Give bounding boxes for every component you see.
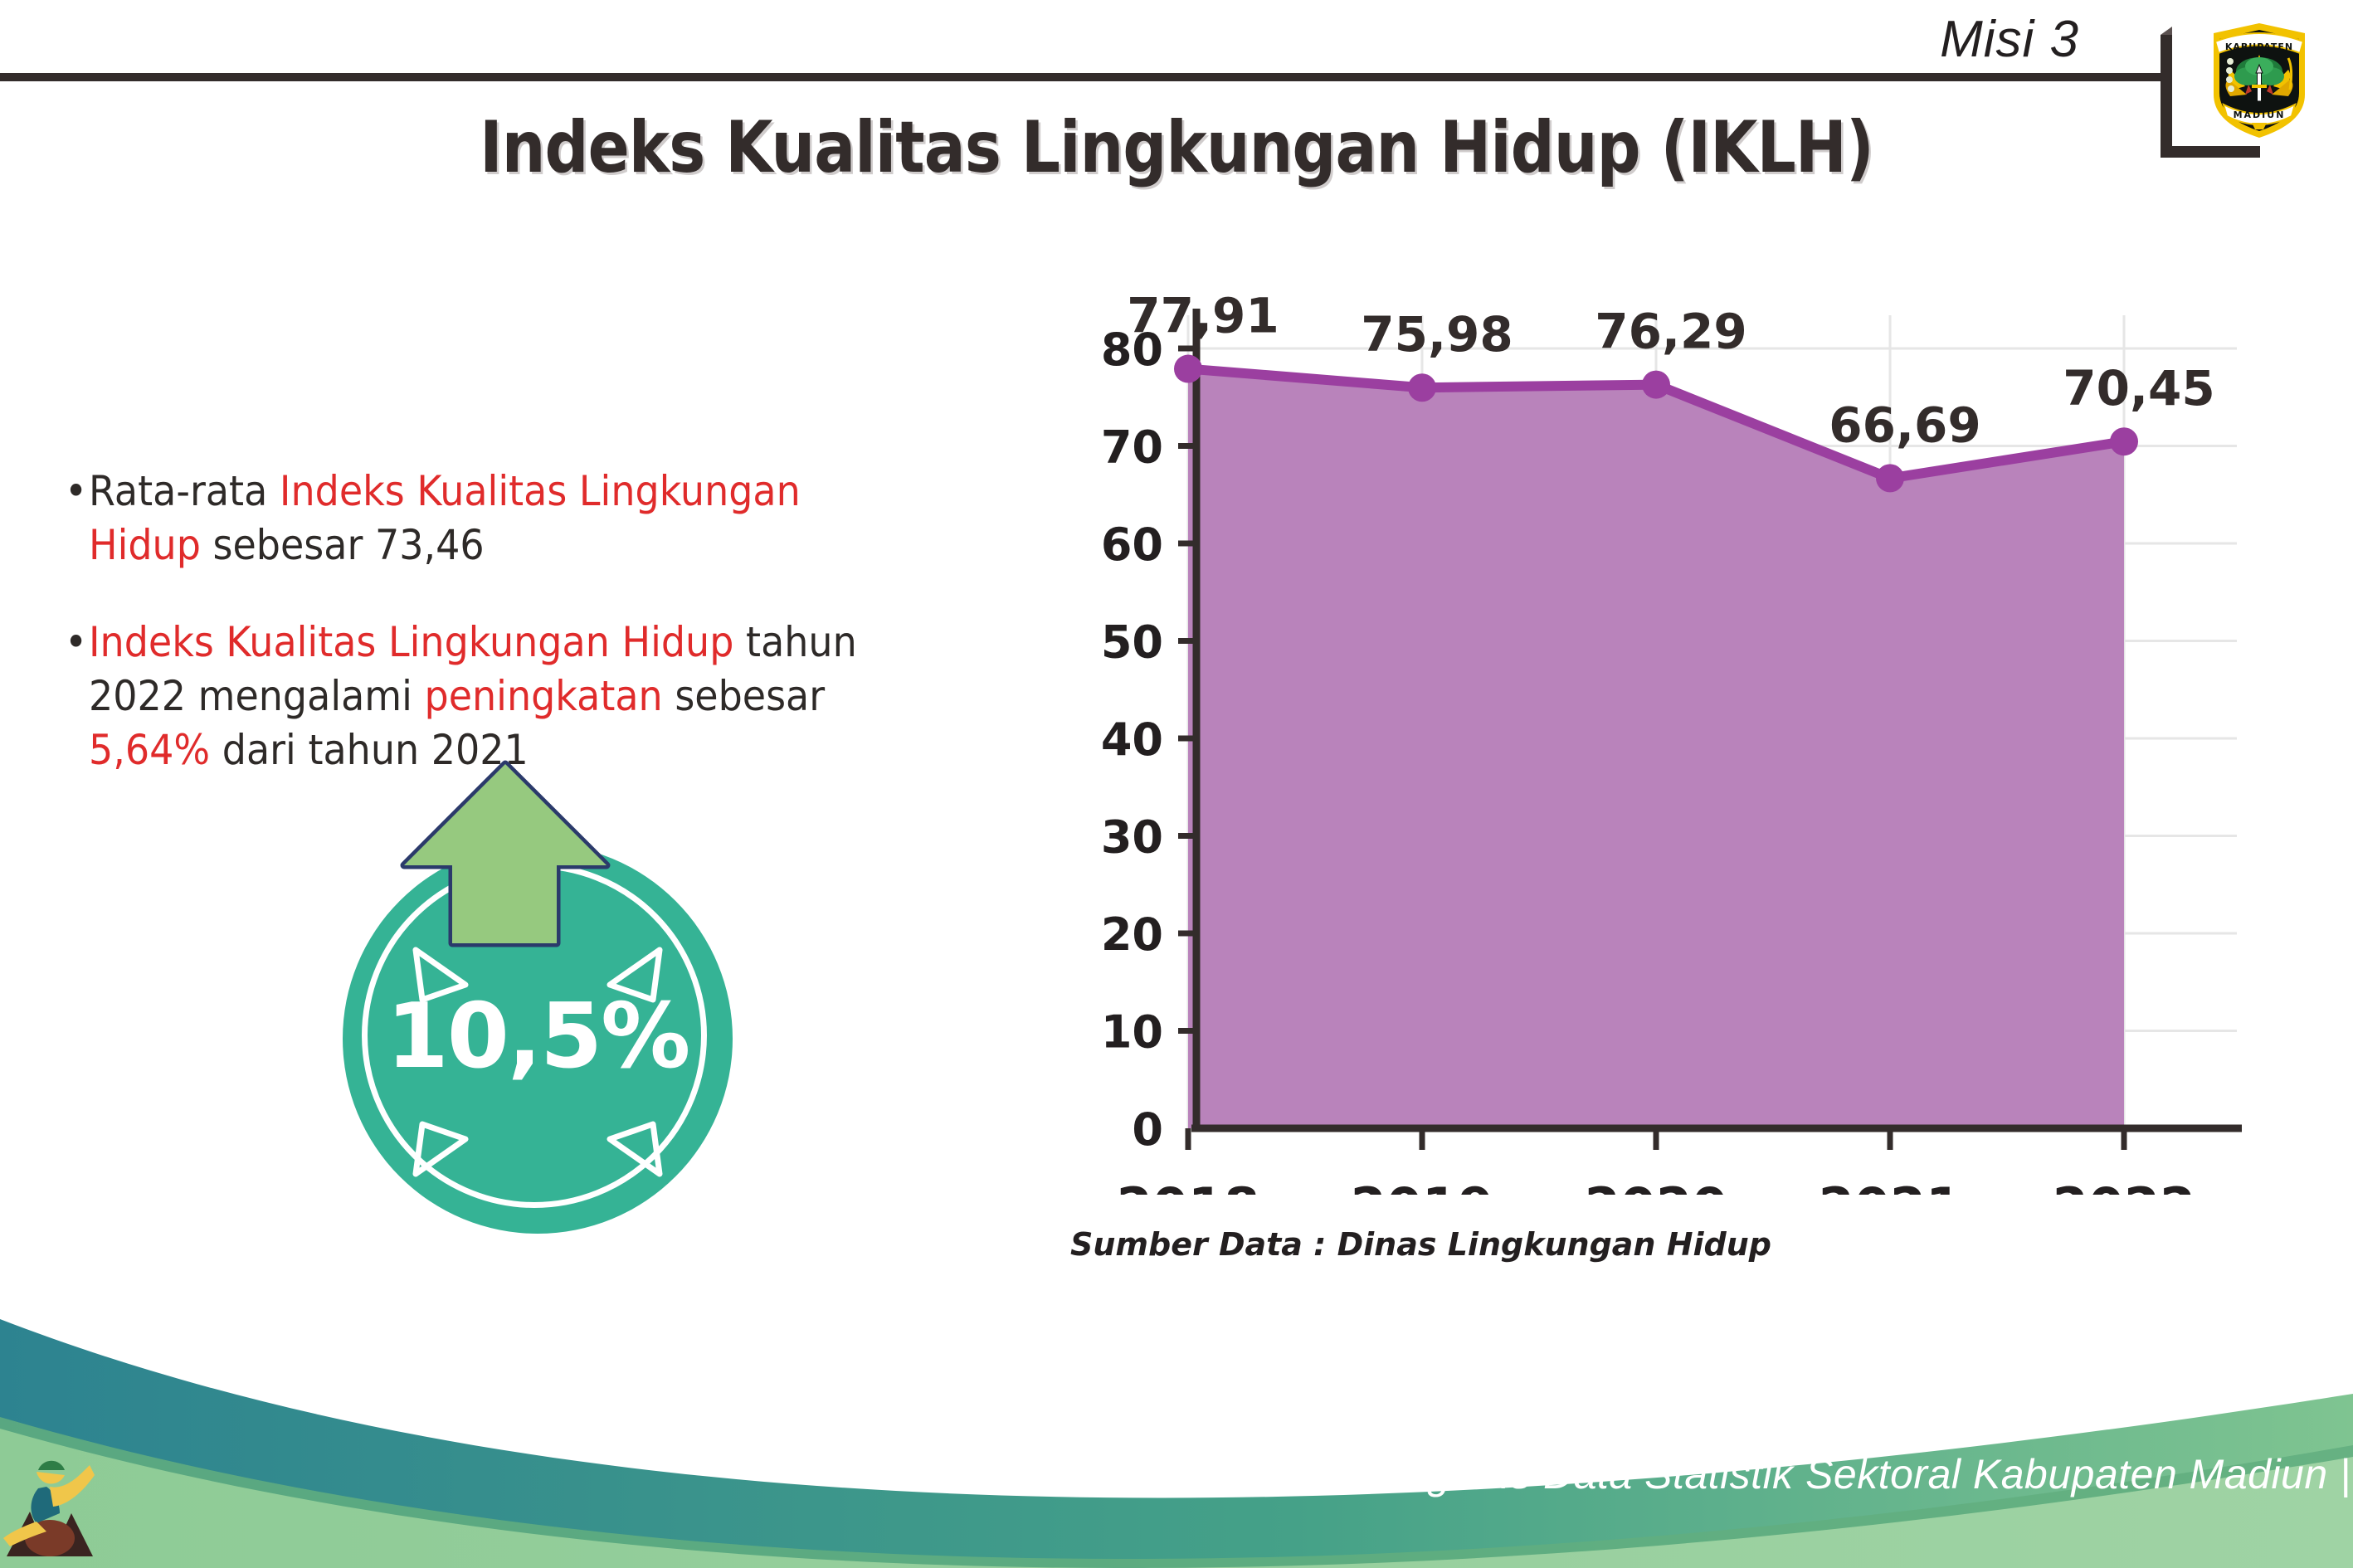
dancer-logo-icon [0, 1452, 100, 1568]
bullet-segment: sebesar [663, 672, 825, 720]
svg-text:75,98: 75,98 [1361, 306, 1513, 363]
svg-text:60: 60 [1101, 519, 1163, 571]
iklh-area-chart: 010203040506070802018201920202021202277,… [979, 282, 2273, 1195]
footer-waves [0, 1269, 2353, 1568]
svg-text:66,69: 66,69 [1829, 397, 1980, 453]
svg-text:50: 50 [1101, 616, 1163, 669]
footer-band: Media Infografis Data Statistik Sektoral… [0, 1269, 2353, 1568]
svg-text:70,45: 70,45 [2063, 360, 2214, 416]
svg-text:77,91: 77,91 [1127, 288, 1279, 344]
svg-text:MADIUN: MADIUN [2234, 110, 2286, 120]
bullet-text: Indeks Kualitas Lingkungan Hidup tahun 2… [89, 616, 897, 777]
kabupaten-madiun-emblem-icon: KABUPATEN [2209, 18, 2310, 141]
bullet-segment-highlight: 5,64% [89, 726, 210, 774]
list-item: • Indeks Kualitas Lingkungan Hidup tahun… [65, 616, 897, 777]
svg-text:40: 40 [1101, 713, 1163, 766]
bullet-marker: • [65, 616, 87, 670]
increase-badge: 10,5% [328, 759, 751, 1199]
bullet-segment: Rata-rata [89, 467, 280, 515]
bullet-segment-highlight: Indeks Kualitas Lingkungan Hidup [89, 618, 733, 666]
header-rule [0, 73, 2167, 81]
arrow-up-icon [397, 759, 613, 958]
misi-label: Misi 3 [1940, 10, 2079, 69]
svg-text:2021: 2021 [1819, 1176, 1962, 1195]
source-note: Sumber Data : Dinas Lingkungan Hidup [1070, 1226, 1771, 1263]
svg-text:76,29: 76,29 [1595, 304, 1746, 360]
svg-text:30: 30 [1101, 811, 1163, 864]
bullet-text: Rata-rata Indeks Kualitas Lingkungan Hid… [89, 465, 897, 572]
svg-text:2020: 2020 [1585, 1176, 1728, 1195]
bullet-segment-highlight: peningkatan [425, 672, 663, 720]
svg-text:0: 0 [1132, 1103, 1163, 1156]
svg-text:20: 20 [1101, 908, 1163, 961]
badge-value: 10,5% [343, 985, 733, 1088]
svg-text:10: 10 [1101, 1006, 1163, 1059]
infographic-slide: Misi 3 KABUPATEN [0, 0, 2353, 1568]
svg-text:KABUPATEN: KABUPATEN [2225, 41, 2293, 52]
svg-text:2022: 2022 [2053, 1176, 2196, 1195]
bullet-segment: sebesar 73,46 [201, 521, 485, 569]
footer-text: Media Infografis Data Statistik Sektoral… [1230, 1450, 2351, 1498]
bracket-bevel [2161, 27, 2172, 35]
bullet-marker: • [65, 465, 87, 519]
list-item: • Rata-rata Indeks Kualitas Lingkungan H… [65, 465, 897, 572]
svg-text:2018: 2018 [1117, 1176, 1260, 1195]
svg-text:70: 70 [1101, 421, 1163, 474]
page-title: Indeks Kualitas Lingkungan Hidup (IKLH) [165, 106, 2189, 189]
svg-text:2019: 2019 [1351, 1176, 1494, 1195]
